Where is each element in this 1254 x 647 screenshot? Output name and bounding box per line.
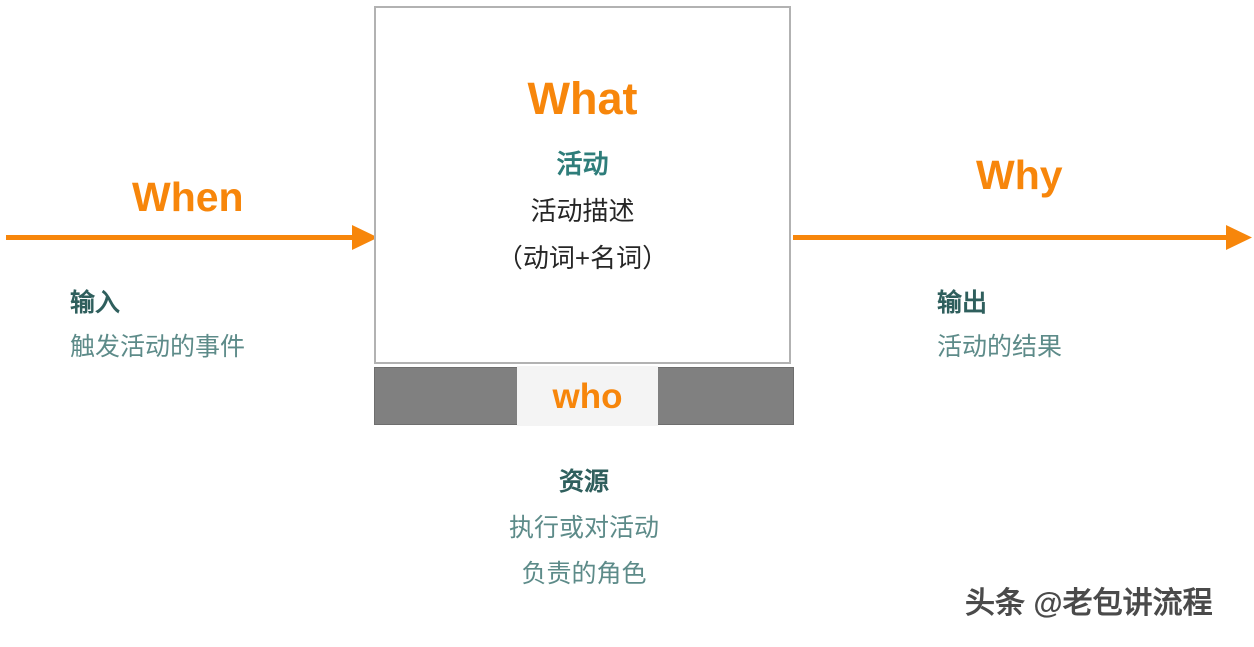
output-annotation-title: 输出 (937, 291, 1062, 316)
input-annotation: 输入 触发活动的事件 (70, 291, 245, 360)
diagram-canvas: What 活动 活动描述 （动词+名词） who When Why 输入 触发活… (0, 0, 1254, 647)
why-heading: Why (976, 155, 1063, 196)
output-annotation: 输出 活动的结果 (937, 291, 1062, 360)
input-annotation-subtitle: 触发活动的事件 (70, 335, 245, 360)
input-arrow (6, 218, 378, 258)
activity-label: 活动 (556, 151, 608, 177)
when-heading: When (132, 177, 244, 218)
resource-annotation-title: 资源 (374, 470, 794, 495)
what-heading: What (528, 76, 638, 121)
arrow-right-icon (6, 225, 378, 250)
input-annotation-title: 输入 (70, 291, 245, 316)
who-label: who (553, 379, 623, 414)
activity-description: 活动描述 (530, 198, 634, 224)
output-annotation-subtitle: 活动的结果 (937, 335, 1062, 360)
output-arrow (793, 218, 1252, 258)
activity-box-content: What 活动 活动描述 （动词+名词） (376, 8, 789, 362)
arrow-right-icon (793, 225, 1252, 250)
resource-annotation: 资源 执行或对活动 负责的角色 (374, 470, 794, 587)
resource-annotation-line-1: 执行或对活动 (374, 516, 794, 541)
resource-annotation-line-2: 负责的角色 (374, 562, 794, 587)
watermark: 头条 @老包讲流程 (965, 589, 1213, 619)
activity-formula: （动词+名词） (497, 245, 668, 271)
who-chip: who (517, 366, 658, 426)
activity-box: What 活动 活动描述 （动词+名词） (374, 6, 791, 364)
